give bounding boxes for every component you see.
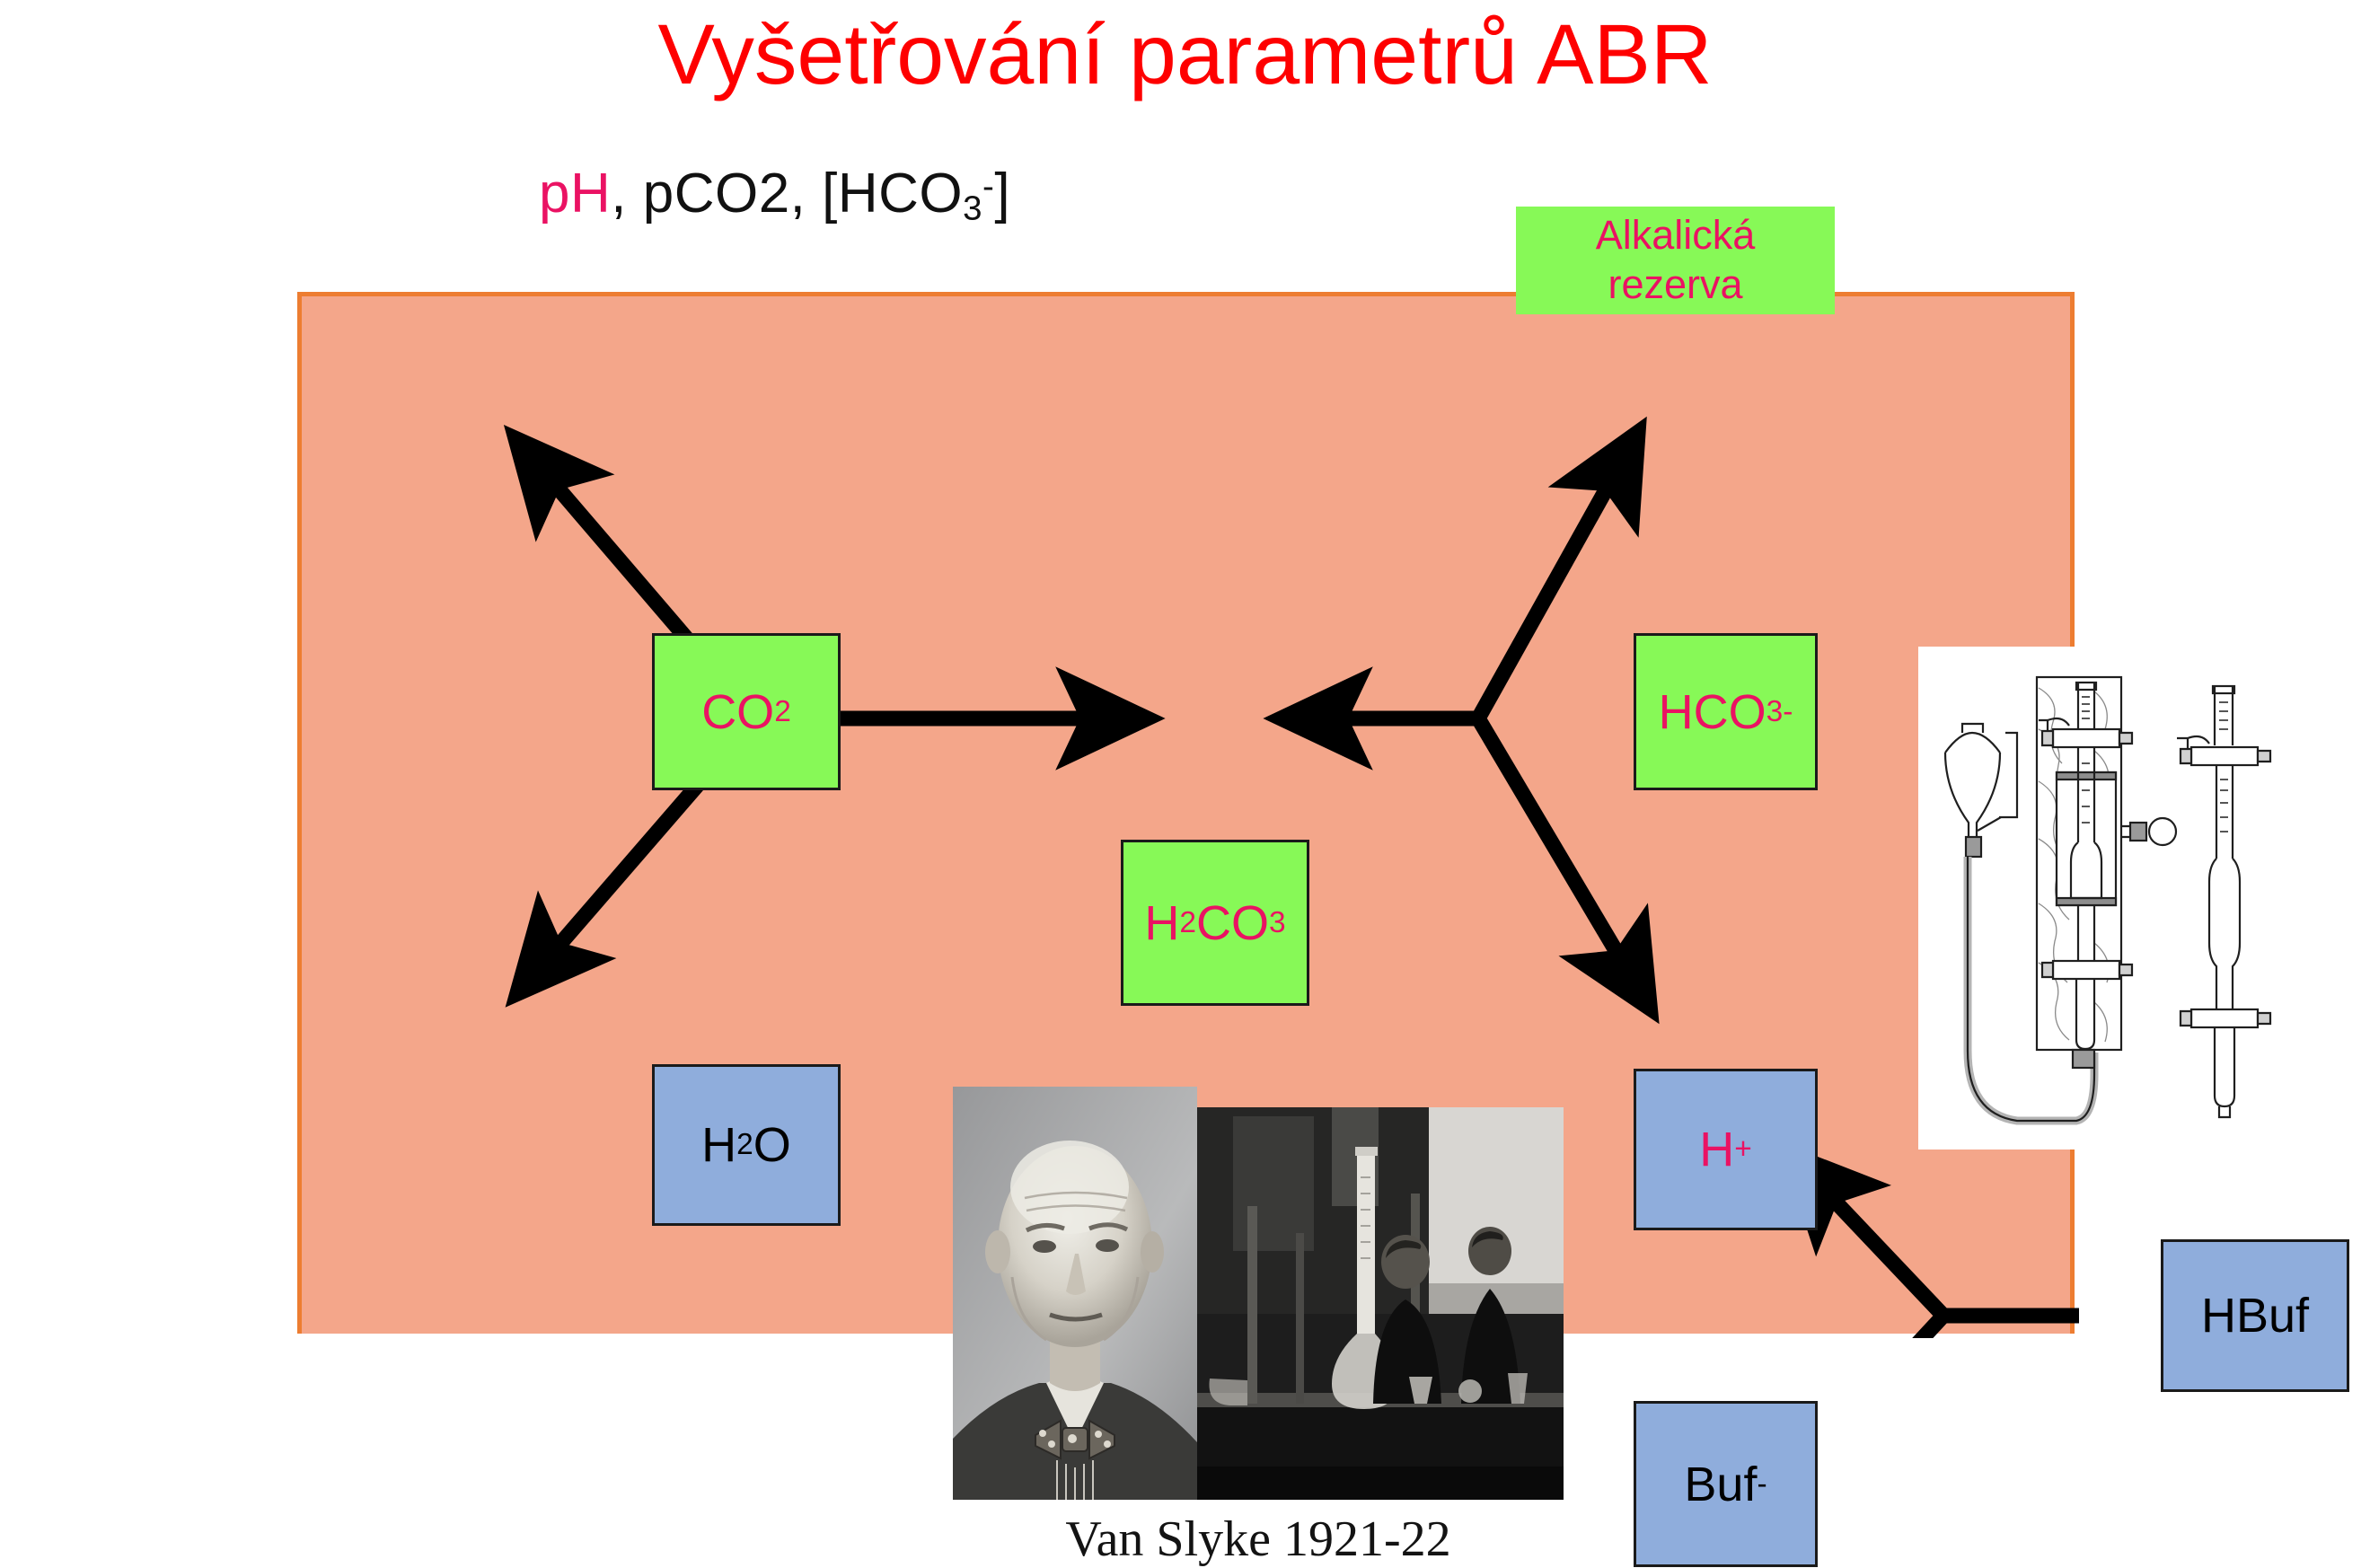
arrow-to-hplus xyxy=(1478,718,1622,961)
page-title: Vyšetřování parametrů ABR xyxy=(0,11,2370,101)
subtitle-rest-sub: 3 xyxy=(963,189,982,227)
chem-box-co2-sub: 2 xyxy=(774,695,791,729)
chem-box-h2o-sub: 2 xyxy=(736,1128,753,1162)
alkalicka-rezerva-callout[interactable]: Alkalická rezerva xyxy=(1516,207,1835,314)
chem-box-hco3-sup: - xyxy=(1783,695,1793,729)
ph-label: pH xyxy=(539,163,611,225)
chem-box-h2co3[interactable]: H2CO3 xyxy=(1121,840,1309,1006)
van-slyke-photo-pair xyxy=(953,1087,1564,1500)
chem-box-buf-sup: - xyxy=(1757,1467,1766,1502)
arrow-to-hco3 xyxy=(1478,480,1611,718)
alkalicka-rezerva-line1: Alkalická xyxy=(1596,211,1756,260)
arrow-to-hplus-buffer xyxy=(1828,1194,1943,1316)
chem-box-hbuf[interactable]: HBuf xyxy=(2161,1239,2349,1392)
chem-box-h2o-o: O xyxy=(753,1117,791,1173)
chem-box-h-plus-label: H xyxy=(1699,1122,1734,1177)
chem-box-h2o-h: H xyxy=(701,1117,736,1173)
chem-box-h2o[interactable]: H2O xyxy=(652,1064,841,1226)
chem-box-h2co3-sub2: 3 xyxy=(1269,906,1286,940)
van-slyke-apparatus-figure xyxy=(1918,647,2295,1150)
chem-box-h2co3-co: CO xyxy=(1196,895,1269,951)
chem-box-hco3[interactable]: HCO3- xyxy=(1634,633,1818,790)
reaction-diagram-panel: CO2 H2CO3 HCO3- H2O H+ HBuf Buf- xyxy=(297,292,2075,1334)
chem-box-h-plus-sup: + xyxy=(1734,1132,1752,1167)
subtitle-rest-sup: - xyxy=(982,167,994,206)
van-slyke-portrait-photo xyxy=(953,1087,1197,1500)
chem-box-hbuf-label: HBuf xyxy=(2201,1288,2309,1343)
chem-box-buf[interactable]: Buf- xyxy=(1634,1401,1818,1567)
subtitle-rest-suffix: ] xyxy=(994,163,1010,225)
chem-box-h-plus[interactable]: H+ xyxy=(1634,1069,1818,1230)
alkalicka-rezerva-line2: rezerva xyxy=(1608,260,1742,310)
subtitle-rest-prefix: , pCO2, [HCO xyxy=(611,163,963,225)
chem-box-h2co3-h: H xyxy=(1144,895,1179,951)
arrow-to-buf xyxy=(1828,1316,1943,1338)
chem-box-co2-label: CO xyxy=(701,684,774,740)
laboratory-scene-photo xyxy=(1197,1107,1564,1500)
chem-box-buf-label: Buf xyxy=(1684,1457,1757,1512)
chem-box-hco3-label: HCO xyxy=(1659,684,1766,740)
chem-box-hco3-sub: 3 xyxy=(1766,695,1784,729)
parameters-subtitle: pH, pCO2, [HCO3-] xyxy=(539,162,1010,228)
chem-box-h2co3-sub1: 2 xyxy=(1179,906,1196,940)
chem-box-co2[interactable]: CO2 xyxy=(652,633,841,790)
photo-caption: Van Slyke 1921-22 xyxy=(953,1511,1564,1568)
